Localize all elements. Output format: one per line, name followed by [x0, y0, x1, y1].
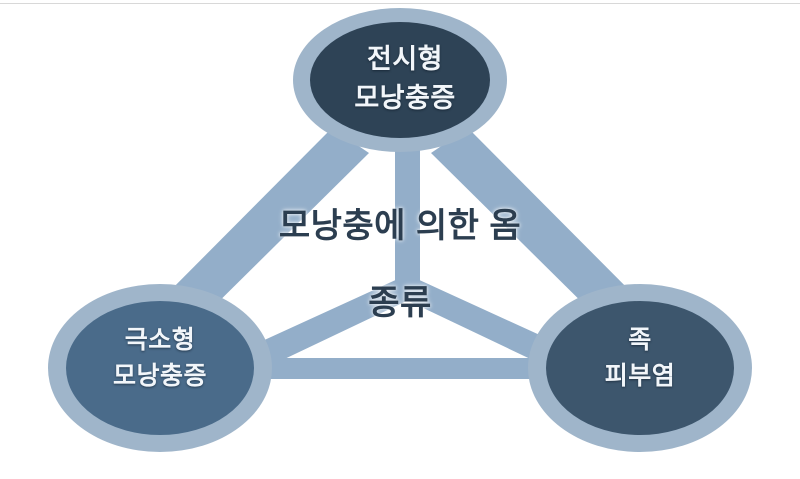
node-top[interactable]	[293, 8, 507, 152]
diagram-graphics	[0, 0, 800, 479]
node-bottom-left[interactable]	[48, 284, 272, 452]
connector-left-to-right	[238, 358, 562, 379]
node-bottom-right[interactable]	[528, 284, 752, 452]
node-bottom-left-fill	[66, 301, 254, 435]
node-top-fill	[310, 22, 490, 138]
node-bottom-right-fill	[546, 301, 734, 435]
diagram-canvas: 전시형 모낭충증 극소형 모낭충증 족 피부염 모낭충에 의한 옴 종류	[0, 0, 800, 479]
